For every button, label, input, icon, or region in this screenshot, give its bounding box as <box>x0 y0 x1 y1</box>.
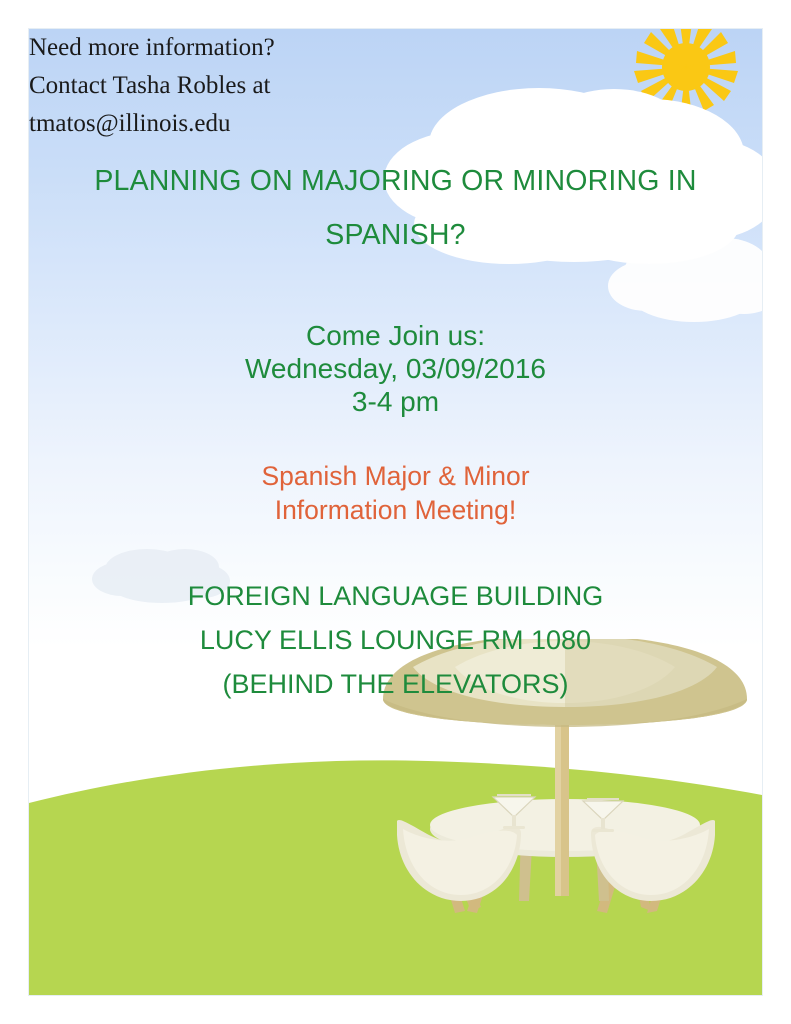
flyer-page: PLANNING ON MAJORING OR MINORING IN SPAN… <box>0 0 791 1024</box>
place-line-2: LUCY ELLIS LOUNGE RM 1080 <box>29 618 762 662</box>
place-line-3: (BEHIND THE ELEVATORS) <box>29 662 762 706</box>
contact-email[interactable]: tmatos@illinois.edu <box>29 105 429 143</box>
page-title: PLANNING ON MAJORING OR MINORING IN SPAN… <box>29 154 762 262</box>
event-datetime: Come Join us: Wednesday, 03/09/2016 3-4 … <box>29 319 762 418</box>
poster-canvas: PLANNING ON MAJORING OR MINORING IN SPAN… <box>28 28 763 996</box>
when-line-3: 3-4 pm <box>29 385 762 418</box>
when-line-1: Come Join us: <box>29 319 762 352</box>
contact-line-2: Contact Tasha Robles at <box>29 67 429 105</box>
headline-line-2: SPANISH? <box>29 208 762 262</box>
event-subtitle: Spanish Major & Minor Information Meetin… <box>29 459 762 527</box>
contact-info: Need more information? Contact Tasha Rob… <box>29 29 429 143</box>
contact-line-1: Need more information? <box>29 29 429 67</box>
event-location: FOREIGN LANGUAGE BUILDING LUCY ELLIS LOU… <box>29 574 762 706</box>
meeting-line-1: Spanish Major & Minor <box>29 459 762 493</box>
when-line-2: Wednesday, 03/09/2016 <box>29 352 762 385</box>
headline-line-1: PLANNING ON MAJORING OR MINORING IN <box>94 165 696 197</box>
text-layer: PLANNING ON MAJORING OR MINORING IN SPAN… <box>29 29 762 995</box>
meeting-line-2: Information Meeting! <box>29 493 762 527</box>
place-line-1: FOREIGN LANGUAGE BUILDING <box>29 574 762 618</box>
